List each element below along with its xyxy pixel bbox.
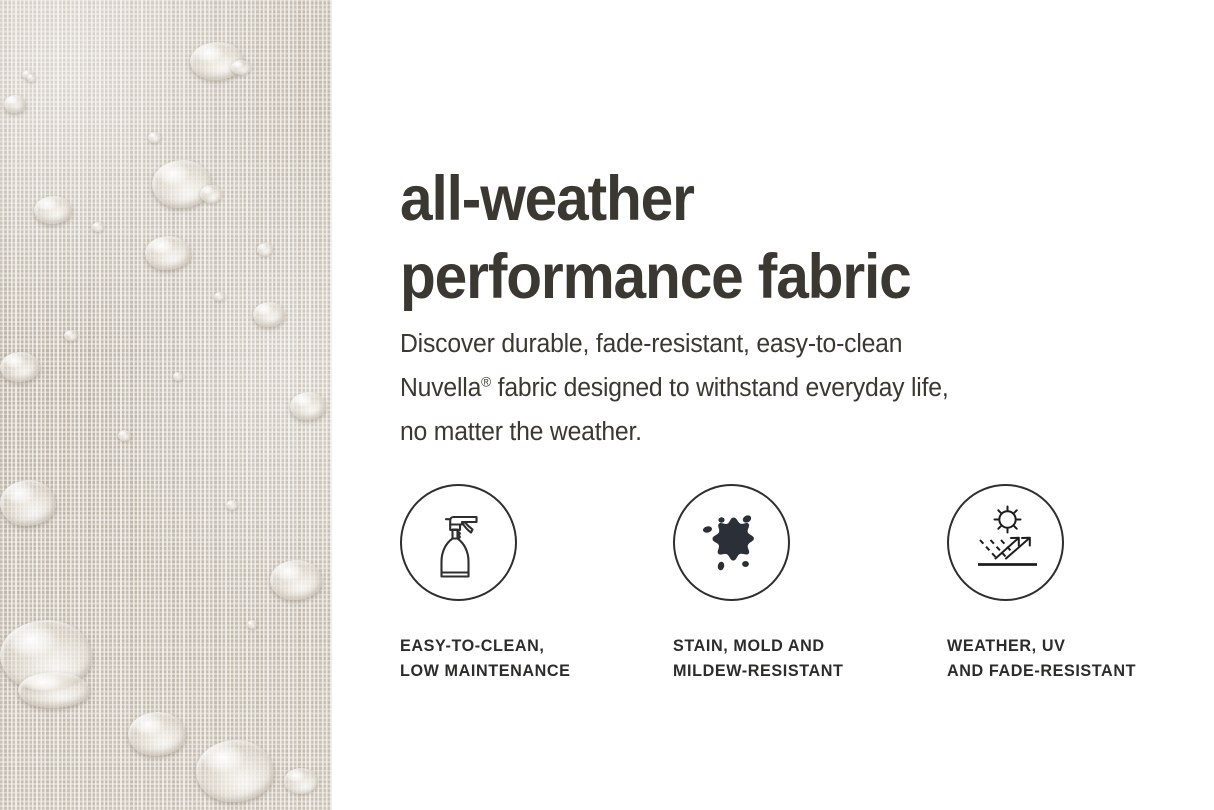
feature-list: EASY-TO-CLEAN, LOW MAINTENANCE — [332, 0, 1214, 810]
sun-uv-reflect-icon — [949, 486, 1066, 603]
stain-splat-icon — [675, 486, 792, 603]
water-droplet — [34, 196, 72, 224]
promo-banner: all-weather performance fabric Discover … — [0, 0, 1214, 810]
water-droplet — [64, 330, 78, 341]
water-droplet — [92, 222, 104, 232]
water-droplet — [290, 392, 326, 420]
feature-caption: WEATHER, UV AND FADE-RESISTANT — [947, 634, 1136, 684]
water-droplet — [128, 712, 186, 756]
water-droplet — [4, 95, 26, 113]
water-droplet — [257, 243, 273, 256]
water-droplet — [148, 132, 161, 143]
feature-item-weather-resistant: WEATHER, UV AND FADE-RESISTANT — [947, 484, 1140, 684]
fabric-photo — [0, 0, 332, 810]
water-droplet — [18, 672, 90, 708]
feature-caption: STAIN, MOLD AND MILDEW-RESISTANT — [673, 634, 843, 684]
water-droplet — [196, 740, 274, 802]
water-droplet — [247, 620, 257, 629]
water-droplet — [270, 560, 322, 600]
water-droplet — [214, 292, 225, 301]
water-droplet — [0, 352, 40, 382]
icon-badge — [400, 484, 517, 601]
feature-caption: EASY-TO-CLEAN, LOW MAINTENANCE — [400, 634, 571, 684]
water-droplet — [118, 430, 131, 441]
water-droplet — [226, 500, 238, 510]
icon-badge — [673, 484, 790, 601]
water-droplet — [284, 768, 318, 794]
icon-badge — [947, 484, 1064, 601]
water-droplet — [27, 74, 36, 82]
spray-bottle-icon — [402, 486, 519, 603]
content-panel: all-weather performance fabric Discover … — [332, 0, 1214, 810]
water-droplet — [200, 185, 222, 203]
water-droplet — [231, 60, 251, 75]
water-droplet — [145, 236, 191, 270]
water-droplet — [253, 302, 285, 327]
water-droplet — [173, 372, 183, 381]
water-droplet — [0, 480, 56, 526]
feature-item-stain-resistant: STAIN, MOLD AND MILDEW-RESISTANT — [673, 484, 847, 684]
feature-item-easy-to-clean: EASY-TO-CLEAN, LOW MAINTENANCE — [400, 484, 574, 684]
